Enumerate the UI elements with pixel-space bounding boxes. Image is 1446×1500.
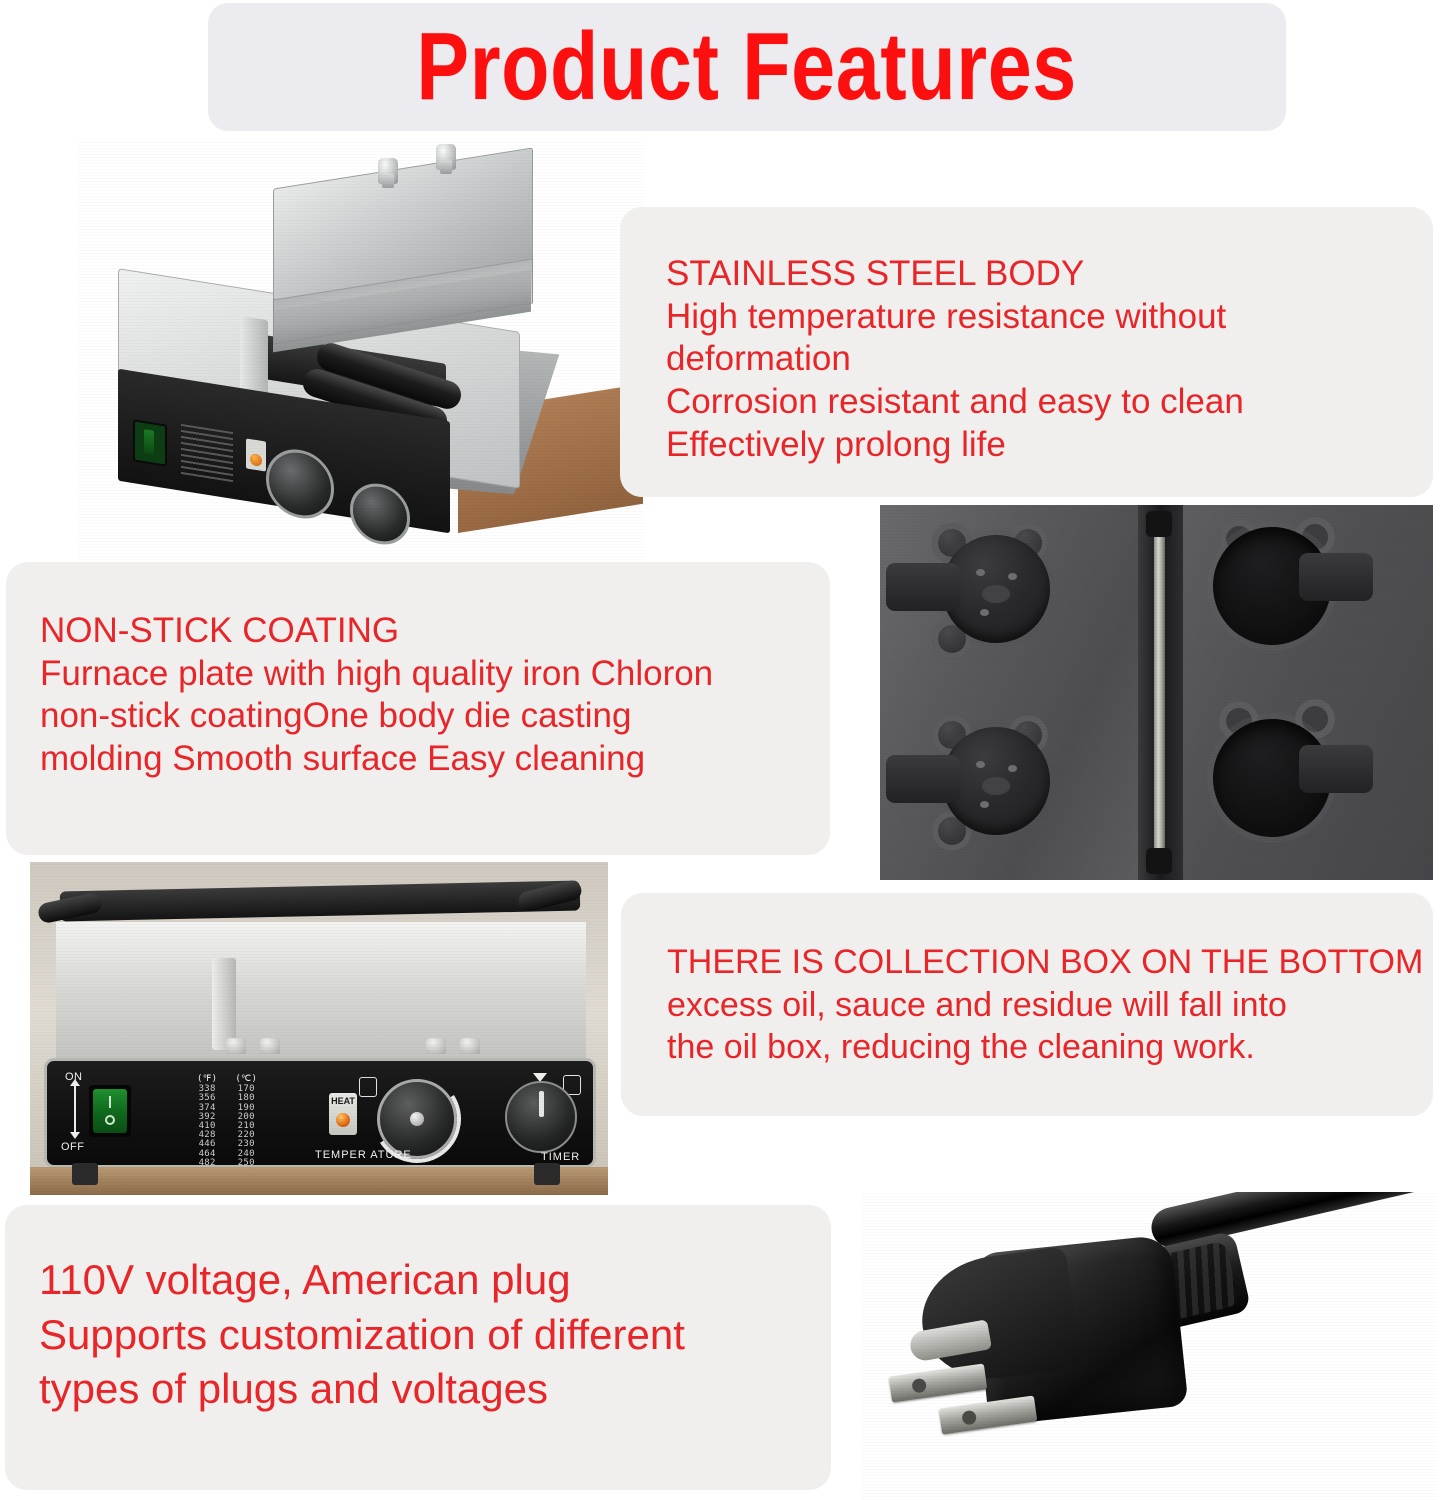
mold-plate-left: [880, 505, 1138, 880]
mold-plate-right: [1183, 505, 1433, 880]
american-power-plug-photo: [862, 1192, 1436, 1500]
machine-foot-left: [72, 1163, 98, 1185]
feature-line: non-stick coatingOne body die casting: [40, 695, 830, 738]
fahrenheit-column: (℉) 338 356 374 392 410 428 446 464 482: [197, 1075, 217, 1168]
lid-knob-right: [436, 144, 456, 170]
timer-label: TIMER: [541, 1151, 580, 1163]
machine-stainless-body: [56, 922, 586, 1062]
bear-eye-right: [1008, 573, 1017, 580]
bear-snout: [982, 585, 1010, 603]
power-switch[interactable]: [89, 1085, 131, 1137]
temperature-label: TEMPER ATURE: [315, 1149, 412, 1161]
plug-front-face: [914, 1246, 1081, 1388]
panel-bolt-4: [460, 1038, 480, 1054]
timer-dial[interactable]: [505, 1081, 577, 1153]
power-on-label: ON: [65, 1071, 83, 1083]
machine-control-panel-photo: ON OFF (℉) 338 356 374 392 410 428 446 4…: [30, 862, 608, 1195]
feature-line: Supports customization of different: [39, 1308, 831, 1363]
mold-cavity-stick-channel-lower: [1299, 745, 1373, 793]
feature-line: molding Smooth surface Easy cleaning: [40, 738, 830, 781]
bear-snout: [982, 777, 1010, 795]
mold-hinge: [1138, 505, 1183, 880]
feature-line: Corrosion resistant and easy to clean: [666, 381, 1433, 424]
celsius-column: (℃) 170 180 190 200 210 220 230 240 250: [235, 1075, 257, 1168]
bear-eye-left: [976, 761, 985, 768]
live-prong: [939, 1395, 1038, 1434]
feature-text-collection-box: THERE IS COLLECTION BOX ON THE BOTTOM ex…: [667, 941, 1433, 1069]
feature-line: Effectively prolong life: [666, 424, 1433, 467]
feature-card-stainless-steel-body: STAINLESS STEEL BODY High temperature re…: [620, 207, 1433, 497]
hinge-cap-bottom: [1146, 848, 1172, 874]
hinge-rod: [1154, 517, 1165, 868]
feature-card-non-stick-coating: NON-STICK COATING Furnace plate with hig…: [6, 562, 830, 855]
feature-line: Furnace plate with high quality iron Chl…: [40, 653, 830, 696]
lid-knob-left: [378, 158, 398, 184]
celsius-header: (℃): [235, 1075, 257, 1084]
feature-headline: THERE IS COLLECTION BOX ON THE BOTTOM: [667, 941, 1433, 984]
fahrenheit-header: (℉): [197, 1075, 217, 1084]
control-panel-face: ON OFF (℉) 338 356 374 392 410 428 446 4…: [44, 1058, 596, 1168]
mold-stick-channel-lower: [886, 755, 960, 803]
neutral-prong: [889, 1363, 988, 1402]
on-off-arrow-icon: [74, 1085, 76, 1133]
machine-lift-lever: [212, 958, 236, 1050]
feature-line: High temperature resistance without: [666, 296, 1433, 339]
feature-line: excess oil, sauce and residue will fall …: [667, 984, 1433, 1027]
bear-mouth: [980, 609, 989, 616]
non-stick-bear-mold-plate-photo: [880, 505, 1433, 880]
thermometer-icon: [359, 1077, 377, 1097]
bear-eye-left: [976, 569, 985, 576]
feature-headline: STAINLESS STEEL BODY: [666, 253, 1433, 296]
heat-indicator-lamp: HEAT: [329, 1093, 357, 1135]
stainless-steel-waffle-maker-photo: [78, 140, 643, 560]
panel-bolt-3: [426, 1038, 446, 1054]
heat-label: HEAT: [329, 1093, 357, 1106]
feature-card-voltage-and-plug: 110V voltage, American plug Supports cus…: [5, 1205, 831, 1490]
power-off-label: OFF: [61, 1141, 85, 1153]
temperature-dial[interactable]: [377, 1079, 457, 1159]
table-surface: [30, 1167, 608, 1195]
bear-eye-right: [1008, 765, 1017, 772]
feature-card-collection-box: THERE IS COLLECTION BOX ON THE BOTTOM ex…: [621, 893, 1433, 1116]
machine-foot-right: [534, 1163, 560, 1185]
feature-line: types of plugs and voltages: [39, 1362, 831, 1417]
feature-text-stainless-steel-body: STAINLESS STEEL BODY High temperature re…: [666, 253, 1433, 466]
feature-line: 110V voltage, American plug: [39, 1253, 831, 1308]
feature-text-voltage-and-plug: 110V voltage, American plug Supports cus…: [39, 1253, 831, 1417]
feature-text-non-stick-coating: NON-STICK COATING Furnace plate with hig…: [40, 610, 830, 781]
bear-mouth: [980, 801, 989, 808]
mold-stick-channel-upper: [886, 563, 960, 611]
feature-line: the oil box, reducing the cleaning work.: [667, 1026, 1433, 1069]
panel-bolt-2: [260, 1038, 280, 1054]
mold-cavity-stick-channel-upper: [1299, 553, 1373, 601]
page-title-card: Product Features: [208, 3, 1286, 131]
temperature-conversion-table: (℉) 338 356 374 392 410 428 446 464 482 …: [197, 1075, 257, 1168]
power-switch[interactable]: [133, 419, 167, 466]
hinge-cap-top: [1146, 511, 1172, 537]
page-title: Product Features: [417, 19, 1078, 115]
panel-bolt-1: [226, 1038, 246, 1054]
feature-line: deformation: [666, 338, 1433, 381]
temperature-table-print: [181, 424, 233, 484]
feature-headline: NON-STICK COATING: [40, 610, 830, 653]
heat-indicator-lamp: [246, 438, 266, 471]
